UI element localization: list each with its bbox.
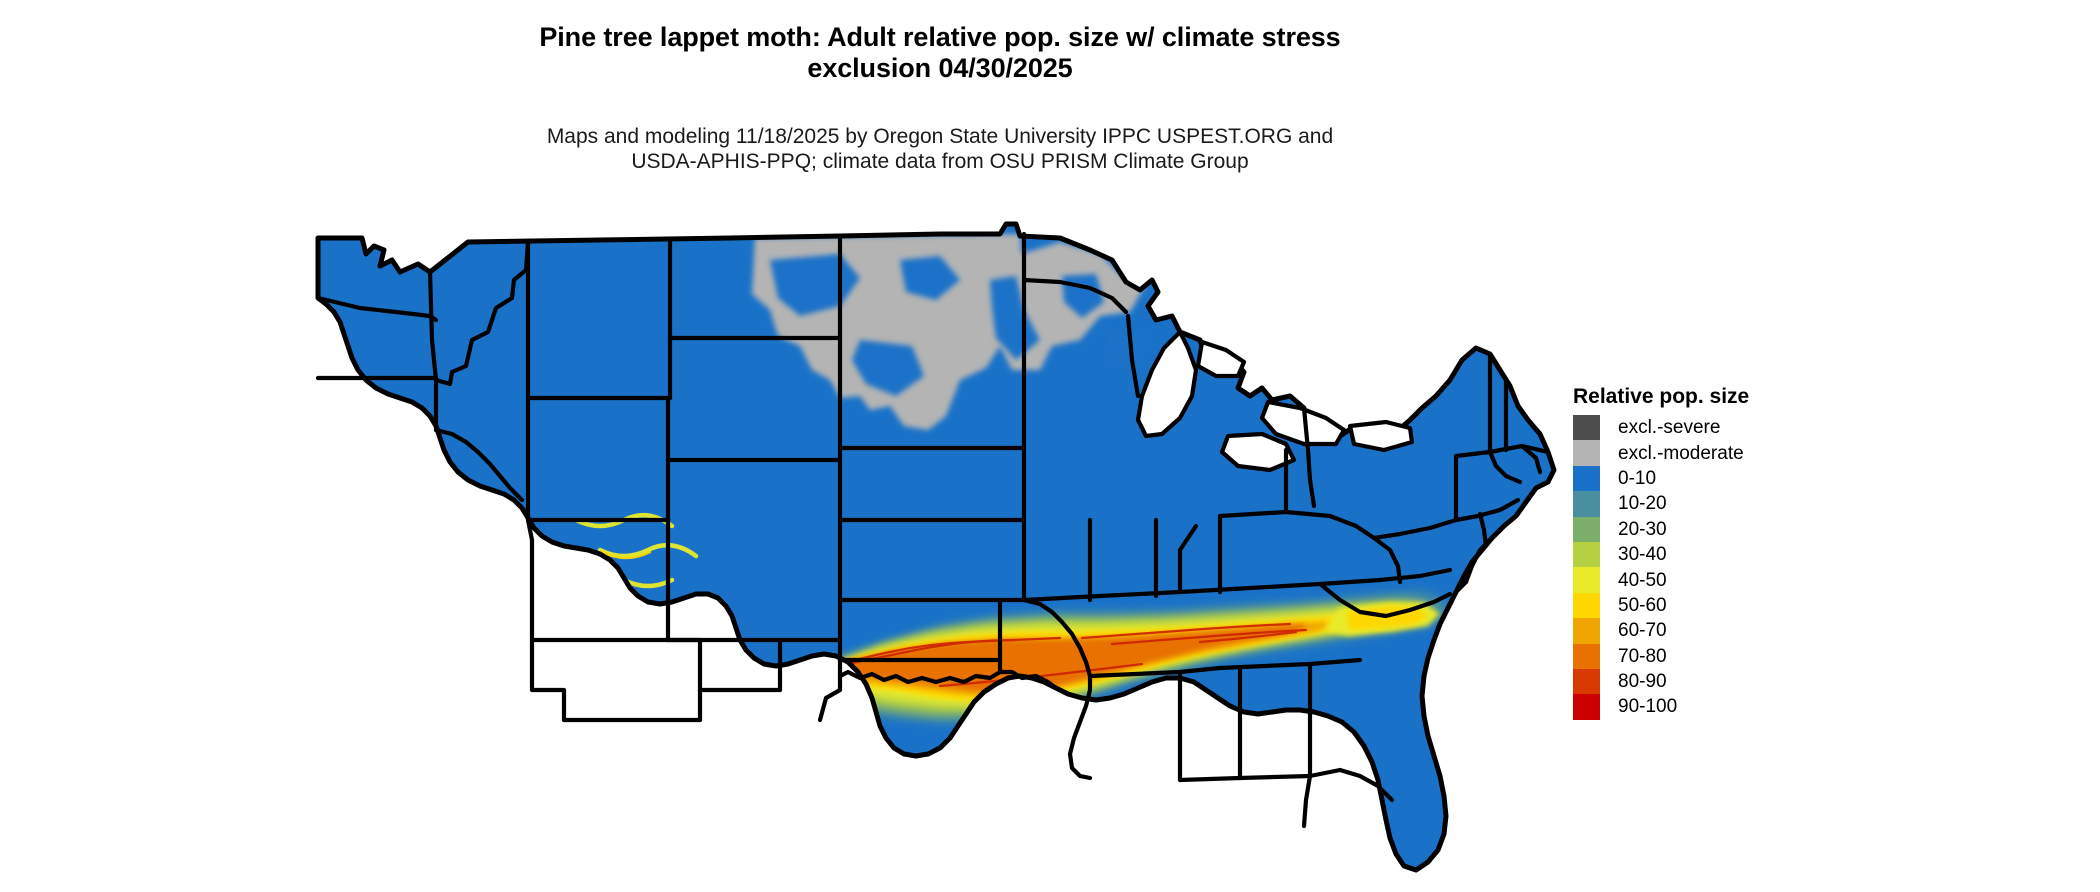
- legend-label: 0-10: [1618, 469, 1656, 488]
- legend-swatch: [1573, 415, 1600, 440]
- legend-swatch: [1573, 618, 1600, 643]
- legend-item[interactable]: 70-80: [1573, 644, 1873, 669]
- legend-swatch: [1573, 491, 1600, 516]
- legend-label: excl.-severe: [1618, 418, 1720, 437]
- legend-label: 20-30: [1618, 520, 1667, 539]
- legend-item[interactable]: excl.-moderate: [1573, 440, 1873, 465]
- us-choropleth-map[interactable]: [300, 220, 1580, 880]
- legend-title: Relative pop. size: [1573, 385, 1873, 409]
- legend-label: 10-20: [1618, 494, 1667, 513]
- legend-label: 40-50: [1618, 571, 1667, 590]
- legend-swatch: [1573, 669, 1600, 694]
- legend-label: 70-80: [1618, 647, 1667, 666]
- legend-swatch: [1573, 567, 1600, 592]
- legend-item[interactable]: 60-70: [1573, 618, 1873, 643]
- legend-label: 80-90: [1618, 672, 1667, 691]
- legend-item[interactable]: 90-100: [1573, 694, 1873, 719]
- legend-swatch: [1573, 694, 1600, 719]
- page-subtitle-line2: USDA-APHIS-PPQ; climate data from OSU PR…: [0, 149, 1880, 174]
- legend-rows: excl.-severe excl.-moderate 0-10 10-20 2…: [1573, 415, 1873, 720]
- map-svg[interactable]: [300, 220, 1580, 880]
- page-title: Pine tree lappet moth: Adult relative po…: [0, 22, 1880, 83]
- legend-label: 30-40: [1618, 545, 1667, 564]
- legend-item[interactable]: 30-40: [1573, 542, 1873, 567]
- map-legend: Relative pop. size excl.-severe excl.-mo…: [1573, 385, 1873, 720]
- legend-item[interactable]: 0-10: [1573, 466, 1873, 491]
- legend-item[interactable]: 80-90: [1573, 669, 1873, 694]
- legend-item[interactable]: excl.-severe: [1573, 415, 1873, 440]
- legend-swatch: [1573, 466, 1600, 491]
- page-title-line2: exclusion 04/30/2025: [0, 53, 1880, 84]
- legend-swatch: [1573, 644, 1600, 669]
- map-page: Pine tree lappet moth: Adult relative po…: [0, 0, 2100, 892]
- page-subtitle: Maps and modeling 11/18/2025 by Oregon S…: [0, 124, 1880, 174]
- page-title-line1: Pine tree lappet moth: Adult relative po…: [0, 22, 1880, 53]
- legend-label: excl.-moderate: [1618, 444, 1744, 463]
- legend-label: 50-60: [1618, 596, 1667, 615]
- legend-item[interactable]: 50-60: [1573, 593, 1873, 618]
- legend-item[interactable]: 20-30: [1573, 517, 1873, 542]
- legend-swatch: [1573, 440, 1600, 465]
- legend-item[interactable]: 40-50: [1573, 567, 1873, 592]
- legend-swatch: [1573, 542, 1600, 567]
- legend-item[interactable]: 10-20: [1573, 491, 1873, 516]
- legend-swatch: [1573, 593, 1600, 618]
- legend-label: 90-100: [1618, 697, 1677, 716]
- legend-swatch: [1573, 517, 1600, 542]
- legend-label: 60-70: [1618, 621, 1667, 640]
- page-subtitle-line1: Maps and modeling 11/18/2025 by Oregon S…: [0, 124, 1880, 149]
